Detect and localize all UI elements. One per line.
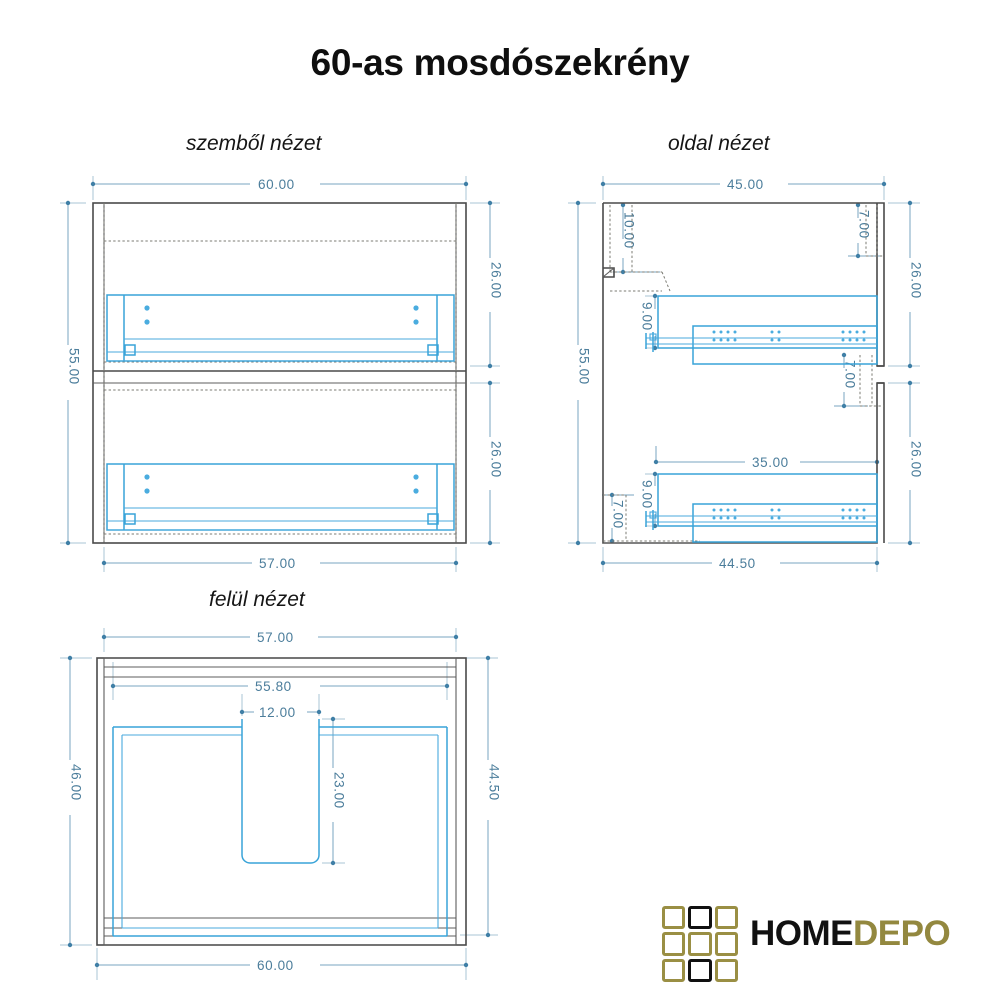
logo-square [662,932,685,955]
dim-top-width: 57.00 [102,628,458,652]
dim-label-top-inner-depth: 46.00 [69,764,84,801]
dim-top-inner-depth: 46.00 [60,656,92,947]
dim-label-top-carcass-depth: 44.50 [487,764,502,801]
logo-square [715,959,738,982]
top-view-drawing: 57.00 55.80 12.00 [0,0,1000,1000]
dim-top-cutout-width: 12.00 [240,694,321,720]
logo-square [688,932,711,955]
logo-wordmark-primary: HOME [750,914,853,953]
dim-label-top-width: 57.00 [257,630,294,645]
logo-square [662,959,685,982]
top-carcass-outline [97,658,466,945]
dim-label-top-overall-width: 60.00 [257,958,294,973]
dim-label-top-inner-width: 55.80 [255,679,292,694]
logo-square [688,959,711,982]
dim-top-cutout-depth: 23.00 [322,717,347,865]
top-sink-cutout [242,719,319,863]
logo-square [715,906,738,929]
technical-drawing-canvas: 60-as mosdószekrény szemből nézet oldal … [0,0,1000,1000]
dim-top-overall-width: 60.00 [95,948,468,980]
dim-label-top-cutout-depth: 23.00 [332,772,347,809]
logo-square [715,932,738,955]
brand-logo: HOMEDEPO [662,902,992,986]
logo-wordmark: HOMEDEPO [750,914,950,954]
logo-square [688,906,711,929]
logo-wordmark-secondary: DEPO [853,914,950,953]
logo-grid-icon [662,906,738,982]
logo-square [662,906,685,929]
dim-top-inner-width: 55.80 [111,662,449,700]
dim-label-top-cutout-width: 12.00 [259,705,296,720]
top-basin-outline [113,727,447,936]
